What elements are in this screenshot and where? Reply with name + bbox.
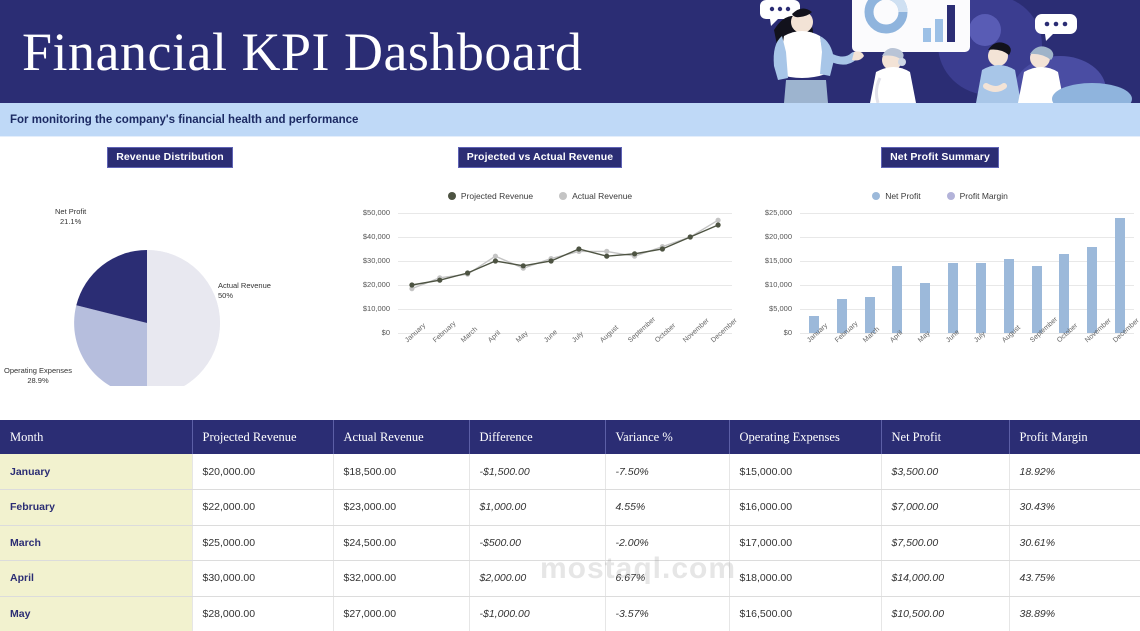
bar xyxy=(920,283,930,333)
bar xyxy=(1032,266,1042,333)
data-point xyxy=(604,254,609,259)
bar xyxy=(1004,259,1014,333)
net-profit-summary-chart: Net Profit Summary Net Profit Profit Mar… xyxy=(740,147,1140,392)
column-header-difference[interactable]: Difference xyxy=(469,420,605,454)
charts-row: Revenue Distribution Net Profit 21.1% xyxy=(0,137,1140,392)
table-row: May$28,000.00$27,000.00-$1,000.00-3.57%$… xyxy=(0,596,1140,631)
table-cell-value: $1,000.00 xyxy=(469,490,605,526)
column-header-net-profit[interactable]: Net Profit xyxy=(881,420,1009,454)
table-cell-value: 43.75% xyxy=(1009,561,1140,597)
column-header-month[interactable]: Month xyxy=(0,420,192,454)
legend-dot-actual xyxy=(559,192,567,200)
table-row: March$25,000.00$24,500.00-$500.00-2.00%$… xyxy=(0,525,1140,561)
table-cell-value: 4.55% xyxy=(605,490,729,526)
table-cell-value: $28,000.00 xyxy=(192,596,333,631)
table-header-row: Month Projected Revenue Actual Revenue D… xyxy=(0,420,1140,454)
data-point xyxy=(715,218,720,223)
data-point xyxy=(715,222,720,227)
data-point xyxy=(465,270,470,275)
legend-item-projected-revenue: Projected Revenue xyxy=(448,191,533,201)
table-cell-value: -$1,000.00 xyxy=(469,596,605,631)
kpi-table: Month Projected Revenue Actual Revenue D… xyxy=(0,420,1140,631)
table-cell-value: -7.50% xyxy=(605,454,729,490)
gridline xyxy=(800,285,1134,286)
table-cell-value: $15,000.00 xyxy=(729,454,881,490)
line-chart-legend: Projected Revenue Actual Revenue xyxy=(340,187,740,205)
y-axis-tick-label: $25,000 xyxy=(740,208,792,217)
bar xyxy=(1115,218,1125,333)
bar xyxy=(1059,254,1069,333)
y-axis-tick-label: $10,000 xyxy=(740,280,792,289)
data-point xyxy=(660,246,665,251)
table-cell-value: $30,000.00 xyxy=(192,561,333,597)
data-point xyxy=(576,246,581,251)
table-cell-value: $24,500.00 xyxy=(333,525,469,561)
y-axis-tick-label: $20,000 xyxy=(740,232,792,241)
data-point xyxy=(493,254,498,259)
table-cell-month: April xyxy=(0,561,192,597)
legend-item-actual-revenue: Actual Revenue xyxy=(559,191,632,201)
table-cell-value: -2.00% xyxy=(605,525,729,561)
revenue-distribution-chart: Revenue Distribution Net Profit 21.1% xyxy=(0,147,340,392)
team-analytics-illustration xyxy=(740,0,1140,103)
bar xyxy=(948,263,958,333)
table-cell-value: $2,000.00 xyxy=(469,561,605,597)
y-axis-tick-label: $15,000 xyxy=(740,256,792,265)
table-cell-value: $10,500.00 xyxy=(881,596,1009,631)
table-cell-month: May xyxy=(0,596,192,631)
table-row: April$30,000.00$32,000.00$2,000.006.67%$… xyxy=(0,561,1140,597)
table-cell-value: $7,000.00 xyxy=(881,490,1009,526)
kpi-table-container: Month Projected Revenue Actual Revenue D… xyxy=(0,420,1140,631)
gridline xyxy=(800,309,1134,310)
table-cell-value: $16,500.00 xyxy=(729,596,881,631)
table-body: January$20,000.00$18,500.00-$1,500.00-7.… xyxy=(0,454,1140,631)
legend-item-profit-margin: Profit Margin xyxy=(947,191,1008,201)
table-cell-value: 38.89% xyxy=(1009,596,1140,631)
table-cell-value: $32,000.00 xyxy=(333,561,469,597)
line-plot-area: $0$10,000$20,000$30,000$40,000$50,000Jan… xyxy=(340,205,740,390)
table-cell-value: -$1,500.00 xyxy=(469,454,605,490)
bar-plot-area: $0$5,000$10,000$15,000$20,000$25,000Janu… xyxy=(740,205,1140,390)
bar xyxy=(976,263,986,333)
data-point xyxy=(548,258,553,263)
page-header: Financial KPI Dashboard xyxy=(0,0,1140,103)
table-cell-value: 18.92% xyxy=(1009,454,1140,490)
table-cell-value: 6.67% xyxy=(605,561,729,597)
line-chart-title: Projected vs Actual Revenue xyxy=(458,147,622,168)
gridline xyxy=(800,261,1134,262)
projected-vs-actual-chart: Projected vs Actual Revenue Projected Re… xyxy=(340,147,740,392)
column-header-profit-margin[interactable]: Profit Margin xyxy=(1009,420,1140,454)
column-header-projected-revenue[interactable]: Projected Revenue xyxy=(192,420,333,454)
table-cell-value: $20,000.00 xyxy=(192,454,333,490)
page-title: Financial KPI Dashboard xyxy=(22,21,582,83)
table-cell-value: $7,500.00 xyxy=(881,525,1009,561)
pie-svg xyxy=(0,171,340,386)
table-cell-value: $25,000.00 xyxy=(192,525,333,561)
data-point xyxy=(604,249,609,254)
whiteboard-charts xyxy=(852,0,970,52)
bar-chart-title: Net Profit Summary xyxy=(881,147,999,168)
gridline xyxy=(800,213,1134,214)
bar-chart-legend: Net Profit Profit Margin xyxy=(740,187,1140,205)
table-row: January$20,000.00$18,500.00-$1,500.00-7.… xyxy=(0,454,1140,490)
pie-label-actual-revenue: Actual Revenue 50% xyxy=(218,281,271,301)
data-point xyxy=(437,278,442,283)
legend-dot-net-profit xyxy=(872,192,880,200)
pie-chart-title: Revenue Distribution xyxy=(107,147,233,168)
column-header-variance[interactable]: Variance % xyxy=(605,420,729,454)
table-cell-value: $22,000.00 xyxy=(192,490,333,526)
data-point xyxy=(409,282,414,287)
legend-item-net-profit: Net Profit xyxy=(872,191,920,201)
dashboard-page: Financial KPI Dashboard xyxy=(0,0,1140,631)
table-cell-value: $18,500.00 xyxy=(333,454,469,490)
subtitle-text: For monitoring the company's financial h… xyxy=(10,114,358,126)
table-cell-value: $14,000.00 xyxy=(881,561,1009,597)
y-axis-tick-label: $0 xyxy=(740,328,792,337)
pie-plot-area: Net Profit 21.1% Actual Revenue 50% Oper… xyxy=(0,171,340,386)
subtitle-bar: For monitoring the company's financial h… xyxy=(0,103,1140,137)
table-cell-value: $3,500.00 xyxy=(881,454,1009,490)
table-cell-value: 30.43% xyxy=(1009,490,1140,526)
bar xyxy=(892,266,902,333)
data-point xyxy=(493,258,498,263)
column-header-operating-expenses[interactable]: Operating Expenses xyxy=(729,420,881,454)
bar xyxy=(1087,247,1097,333)
table-cell-value: -$500.00 xyxy=(469,525,605,561)
table-cell-value: $27,000.00 xyxy=(333,596,469,631)
legend-dot-projected xyxy=(448,192,456,200)
table-cell-value: -3.57% xyxy=(605,596,729,631)
table-cell-value: $23,000.00 xyxy=(333,490,469,526)
table-row: February$22,000.00$23,000.00$1,000.004.5… xyxy=(0,490,1140,526)
table-cell-value: $18,000.00 xyxy=(729,561,881,597)
table-cell-value: 30.61% xyxy=(1009,525,1140,561)
line-series-projected xyxy=(412,225,718,285)
pie-label-operating-expenses: Operating Expenses 28.9% xyxy=(4,366,72,386)
table-cell-month: January xyxy=(0,454,192,490)
line-series-svg xyxy=(340,205,740,390)
column-header-actual-revenue[interactable]: Actual Revenue xyxy=(333,420,469,454)
legend-dot-profit-margin xyxy=(947,192,955,200)
data-point xyxy=(632,251,637,256)
pie-label-net-profit: Net Profit 21.1% xyxy=(55,207,86,227)
data-point xyxy=(521,263,526,268)
data-point xyxy=(688,234,693,239)
table-cell-month: March xyxy=(0,525,192,561)
table-cell-value: $16,000.00 xyxy=(729,490,881,526)
table-cell-month: February xyxy=(0,490,192,526)
y-axis-tick-label: $5,000 xyxy=(740,304,792,313)
table-cell-value: $17,000.00 xyxy=(729,525,881,561)
gridline xyxy=(800,237,1134,238)
